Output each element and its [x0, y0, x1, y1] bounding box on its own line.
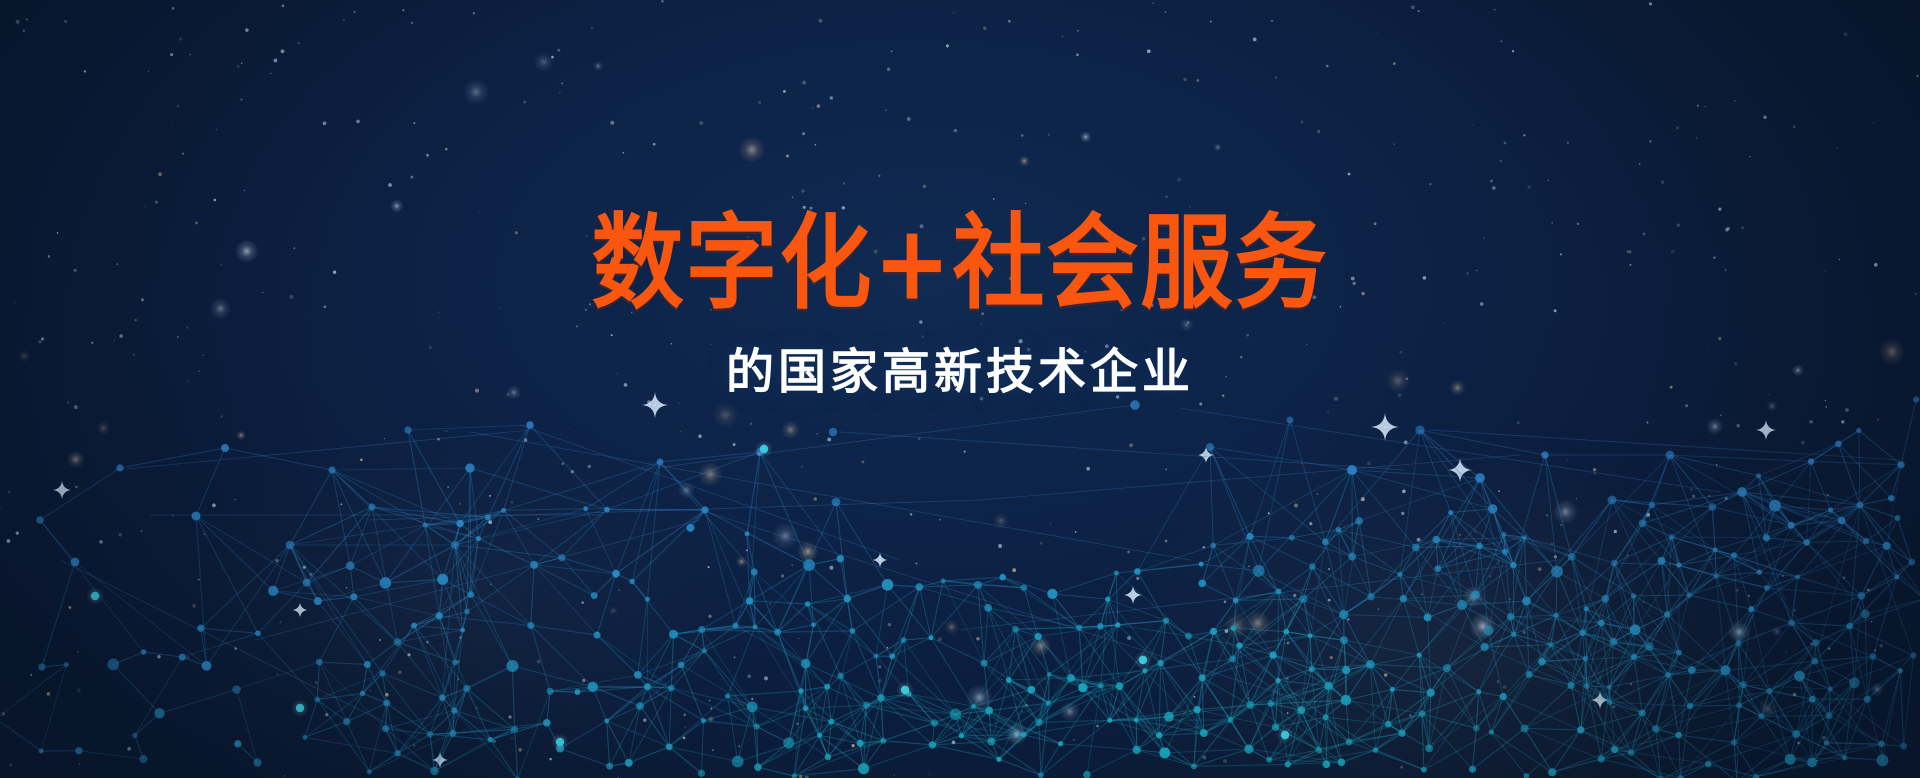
page-subtitle: 的国家高新技术企业 [0, 346, 1920, 399]
banner-stage: 数字化+社会服务 的国家高新技术企业 [0, 0, 1920, 778]
mesh-edges [0, 400, 1920, 778]
headline-block: 数字化+社会服务 的国家高新技术企业 [0, 218, 1920, 399]
page-title: 数字化+社会服务 [0, 212, 1920, 315]
